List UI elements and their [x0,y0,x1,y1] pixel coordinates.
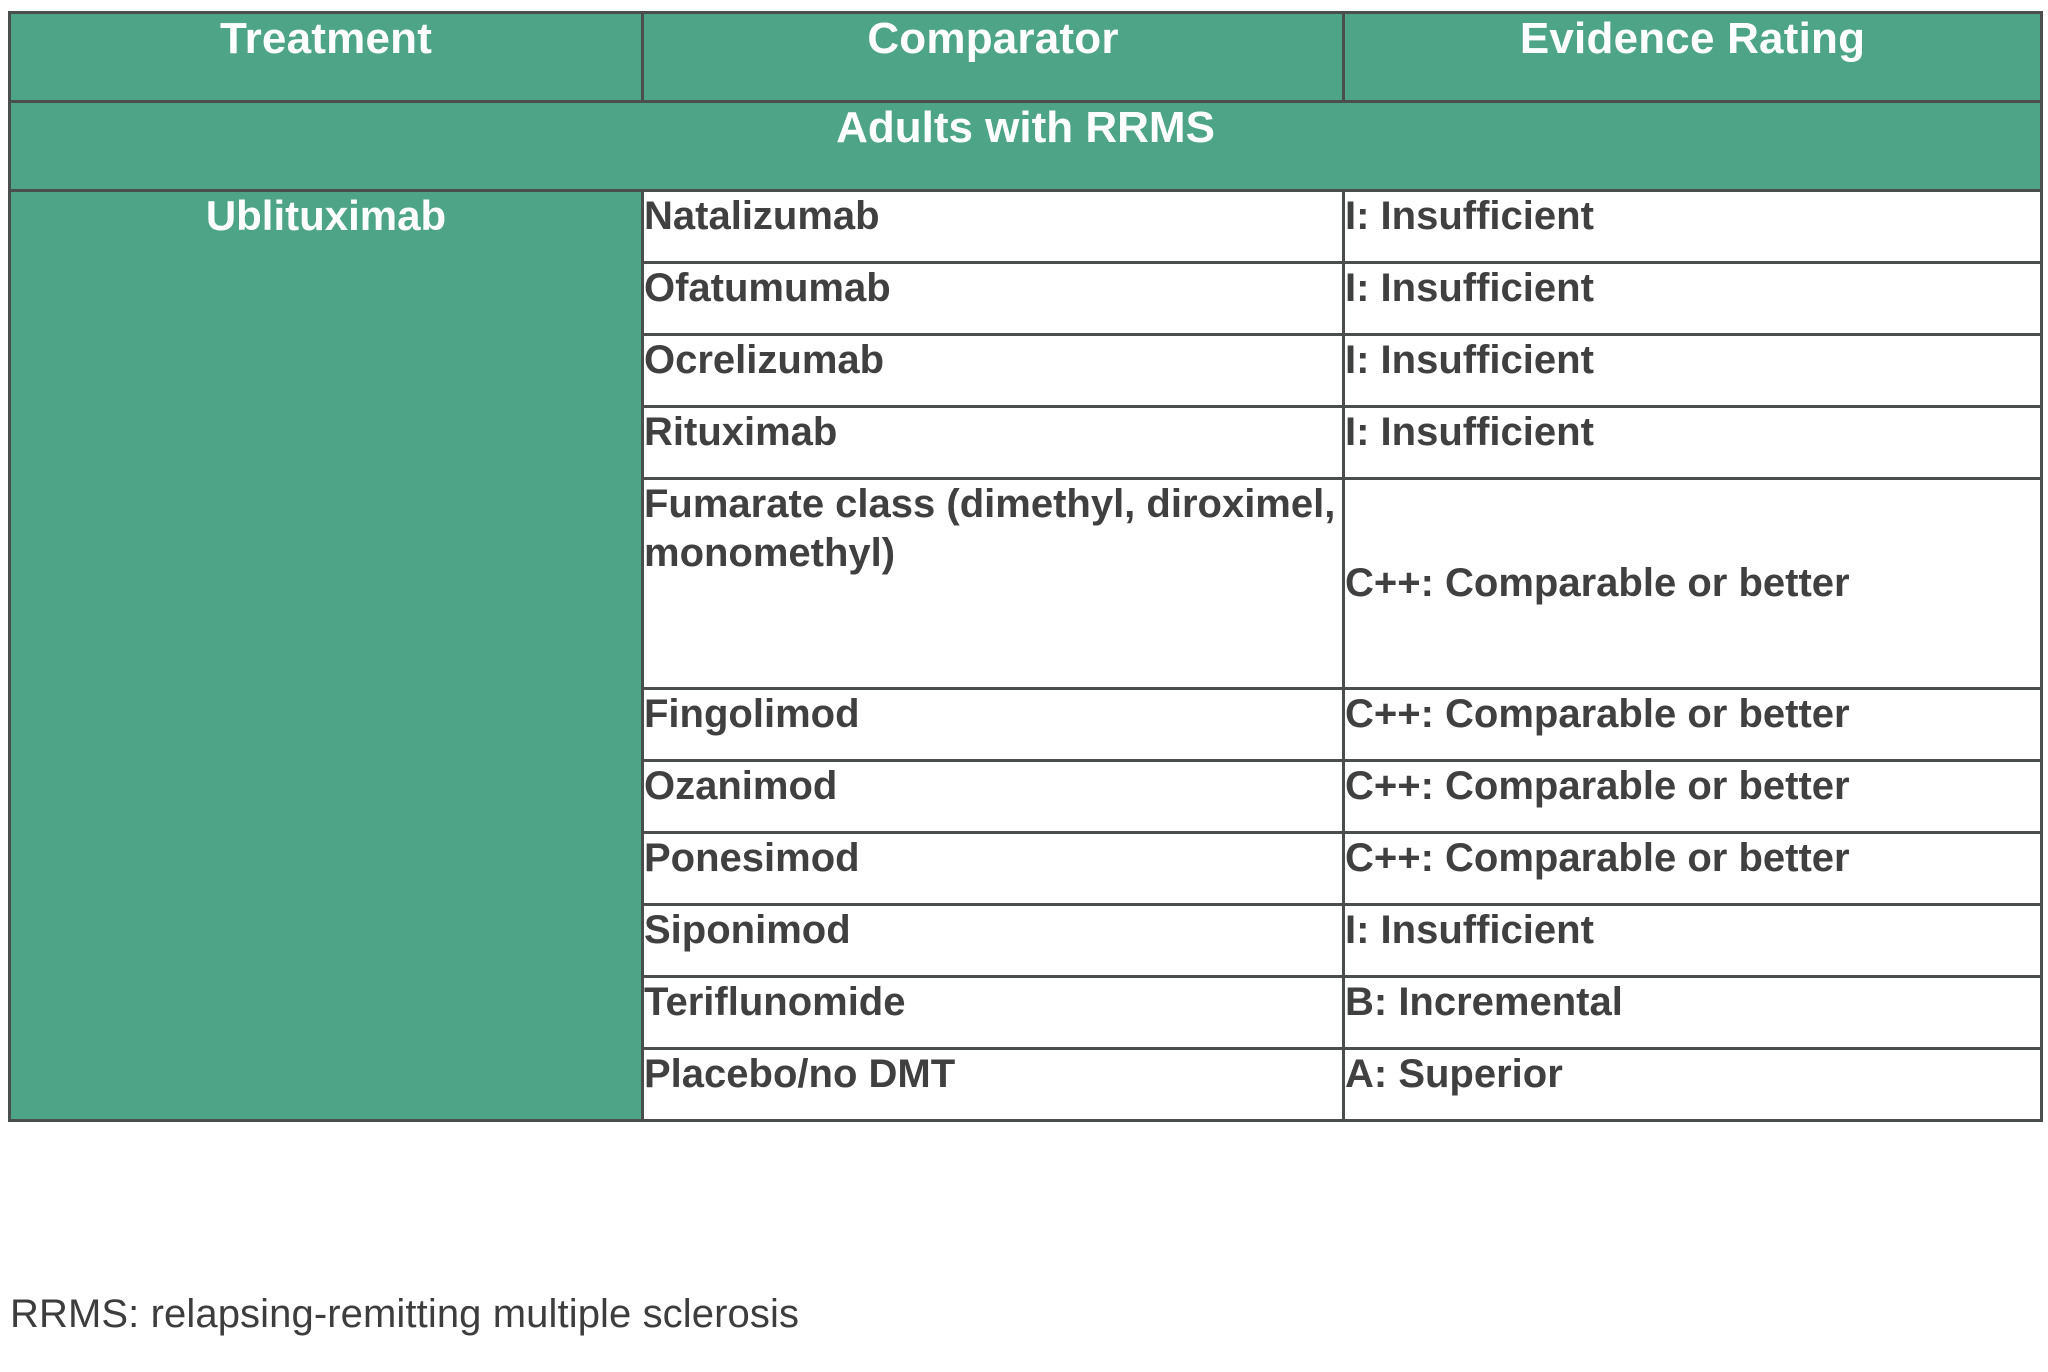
column-header-comparator: Comparator [643,13,1344,102]
comparator-cell: Teriflunomide [643,977,1344,1049]
evidence-rating-cell: C++: Comparable or better [1344,689,2042,761]
column-header-treatment: Treatment [10,13,643,102]
table-page: Treatment Comparator Evidence Rating Adu… [0,0,2048,1372]
comparator-cell: Natalizumab [643,191,1344,263]
table-row: Ublituximab Natalizumab I: Insufficient [10,191,2042,263]
section-banner-adults-rrms: Adults with RRMS [10,102,2042,191]
comparator-cell: Ozanimod [643,761,1344,833]
evidence-rating-cell: C++: Comparable or better [1344,833,2042,905]
table-header-row: Treatment Comparator Evidence Rating [10,13,2042,102]
comparator-cell: Siponimod [643,905,1344,977]
comparator-cell: Placebo/no DMT [643,1049,1344,1121]
table-footnote: RRMS: relapsing-remitting multiple scler… [10,1292,799,1337]
treatment-cell-ublituximab: Ublituximab [10,191,643,1121]
evidence-rating-cell: B: Incremental [1344,977,2042,1049]
comparator-cell: Ofatumumab [643,263,1344,335]
evidence-rating-cell: I: Insufficient [1344,335,2042,407]
evidence-rating-cell: C++: Comparable or better [1344,479,2042,689]
comparator-cell: Fumarate class (dimethyl, diroximel, mon… [643,479,1344,689]
comparator-cell: Ponesimod [643,833,1344,905]
evidence-rating-cell: C++: Comparable or better [1344,761,2042,833]
evidence-rating-cell: I: Insufficient [1344,263,2042,335]
comparator-cell: Fingolimod [643,689,1344,761]
evidence-rating-table: Treatment Comparator Evidence Rating Adu… [8,11,2043,1122]
evidence-rating-cell: A: Superior [1344,1049,2042,1121]
evidence-rating-cell: I: Insufficient [1344,191,2042,263]
evidence-rating-cell: I: Insufficient [1344,407,2042,479]
column-header-evidence-rating: Evidence Rating [1344,13,2042,102]
section-banner-row: Adults with RRMS [10,102,2042,191]
comparator-cell: Rituximab [643,407,1344,479]
evidence-rating-cell: I: Insufficient [1344,905,2042,977]
comparator-cell: Ocrelizumab [643,335,1344,407]
